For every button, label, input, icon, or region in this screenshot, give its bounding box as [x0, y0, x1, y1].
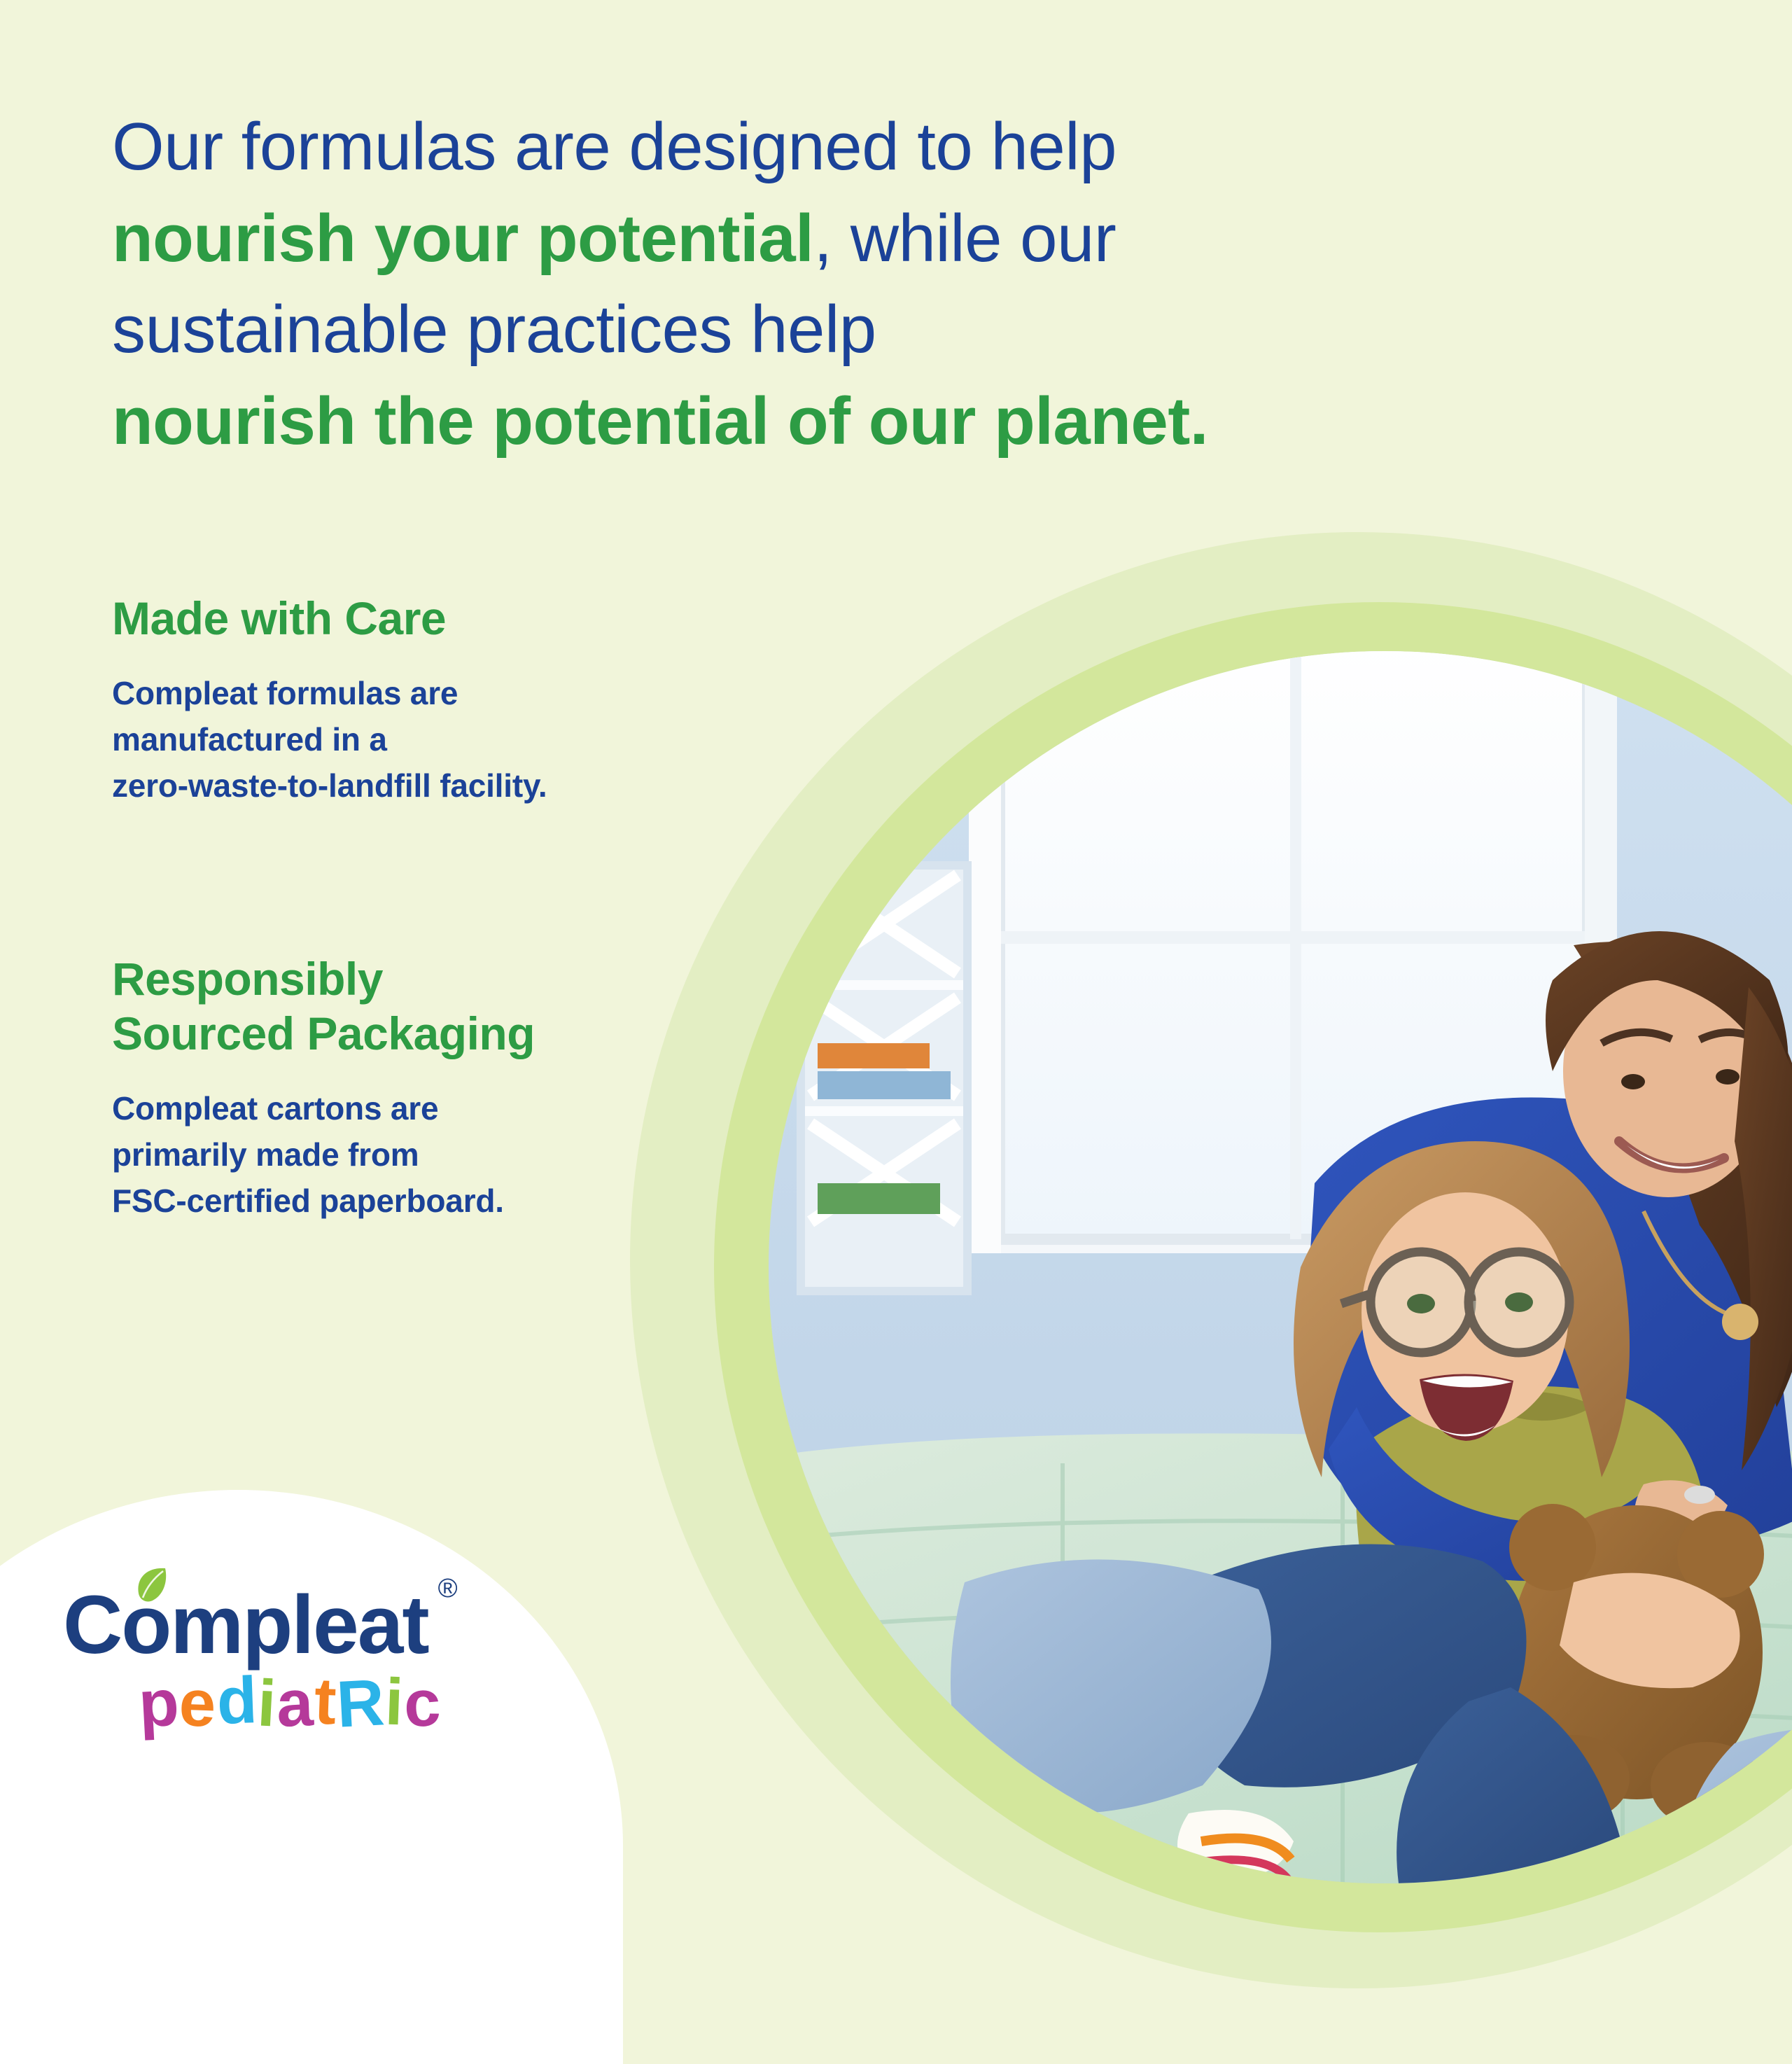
logo-pediatric-letter: i [384, 1669, 405, 1736]
feature-body-made-with-care: Compleat formulas are manufactured in a … [112, 670, 742, 809]
logo-pediatric-letter: t [313, 1668, 338, 1734]
feature-body-responsibly-sourced-packaging: Compleat cartons are primarily made from… [112, 1085, 742, 1225]
logo-wordmark-text: Compleat [63, 1579, 428, 1671]
feature-title-made-with-care: Made with Care [112, 592, 742, 646]
registered-trademark-icon: ® [438, 1575, 458, 1602]
feature-body-line: zero-waste-to-landfill facility. [112, 767, 547, 804]
photo-illustration [769, 651, 1792, 1883]
lifestyle-photo [769, 651, 1792, 1883]
logo-pediatric-letter: d [216, 1667, 259, 1734]
headline-line-3: sustainable practices help [112, 292, 876, 367]
logo-pediatric-letter: R [335, 1669, 386, 1737]
feature-responsibly-sourced-packaging: Responsibly Sourced Packaging Compleat c… [112, 952, 742, 1224]
leaf-icon [133, 1566, 169, 1605]
feature-body-line: FSC-certified paperboard. [112, 1183, 504, 1219]
headline: Our formulas are designed to help nouris… [112, 102, 1302, 467]
feature-body-line: Compleat formulas are [112, 675, 458, 711]
logo-backdrop [0, 1490, 623, 2064]
headline-line-1: Our formulas are designed to help [112, 109, 1116, 184]
compleat-pediatric-logo: Compleat ® pediatRic [63, 1584, 553, 1736]
logo-pediatric-letter: p [137, 1670, 181, 1738]
feature-body-line: manufactured in a [112, 721, 387, 758]
feature-title-line: Responsibly [112, 953, 383, 1005]
logo-wordmark-pediatric: pediatRic [139, 1671, 553, 1736]
logo-pediatric-letter: c [402, 1670, 442, 1737]
feature-body-line: Compleat cartons are [112, 1090, 438, 1127]
headline-line-2-tail: , while our [813, 201, 1116, 276]
feature-title-responsibly-sourced-packaging: Responsibly Sourced Packaging [112, 952, 742, 1061]
headline-accent-2: nourish the potential of our planet. [112, 384, 1208, 459]
feature-made-with-care: Made with Care Compleat formulas are man… [112, 592, 742, 809]
feature-body-line: primarily made from [112, 1136, 419, 1173]
feature-title-line: Sourced Packaging [112, 1007, 535, 1059]
headline-accent-1: nourish your potential [112, 201, 813, 276]
logo-pediatric-letter: a [276, 1670, 316, 1737]
logo-pediatric-letter: e [178, 1670, 218, 1737]
logo-wordmark-compleat: Compleat ® [63, 1584, 428, 1666]
